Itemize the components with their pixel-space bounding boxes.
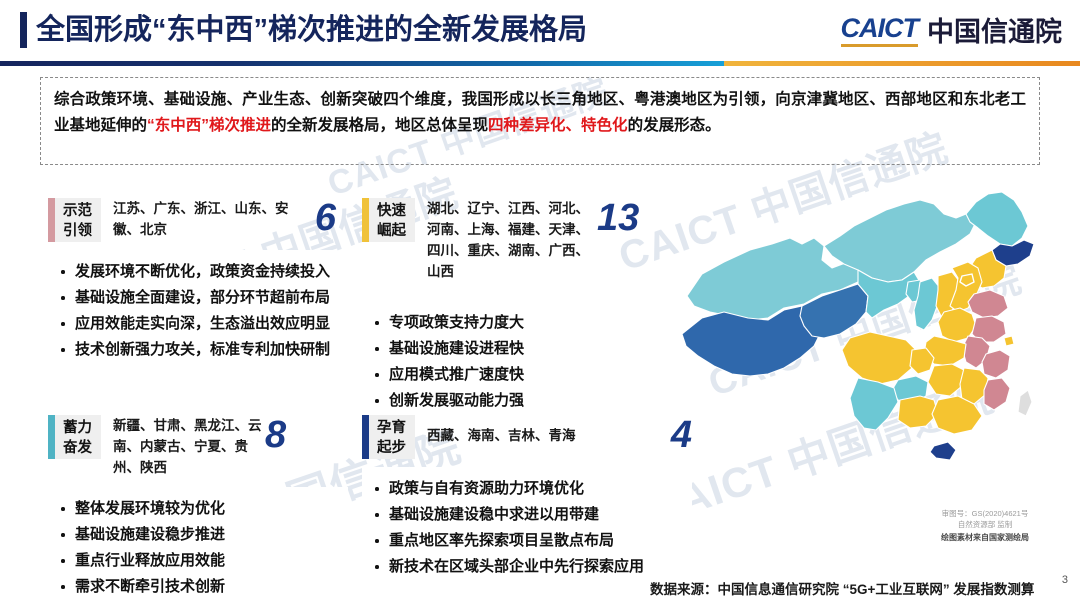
region-sichuan (842, 332, 916, 384)
card-header: 示范 引领 江苏、广东、浙江、山东、安徽、北京 6 (48, 198, 336, 242)
list-item: 需求不断牵引技术创新 (58, 574, 336, 600)
intro-highlight-1: “东中西”梯次推进 (147, 117, 271, 134)
list-item: 应用效能走实向深，生态溢出效应明显 (58, 311, 324, 337)
logo-abbr-text: CAICT (841, 14, 919, 43)
card-tag-line2: 引领 (63, 221, 92, 241)
card-count: 8 (263, 415, 286, 455)
map-note-line3: 绘图素材来自国家测绘局 (900, 531, 1070, 544)
card-count: 6 (313, 198, 336, 238)
card-tag-text: 蓄力 奋发 (55, 415, 101, 459)
region-heilongjiang (966, 192, 1028, 246)
map-approval-note: 审图号：GS(2020)4621号 自然资源部 监制 绘图素材来自国家测绘局 (900, 508, 1070, 544)
divider-blue-segment (0, 61, 724, 66)
list-item: 政策与自有资源助力环境优化 (372, 476, 680, 502)
list-item: 重点行业释放应用效能 (58, 548, 336, 574)
list-item: 基础设施建设进程快 (372, 336, 670, 362)
card-accent-bar (362, 198, 369, 242)
china-map (672, 178, 1072, 508)
card-accent-bar (362, 415, 369, 459)
card-bullets: 发展环境不断优化，政策资金持续投入 基础设施全面建设，部分环节超前布局 应用效能… (48, 250, 336, 373)
logo-mark: CAICT (841, 14, 919, 47)
card-tag-line1: 示范 (63, 201, 92, 221)
card-count: 4 (669, 415, 692, 455)
card-tag-line1: 孕育 (377, 418, 406, 438)
card-bullets: 整体发展环境较为优化 基础设施建设稳步推进 重点行业释放应用效能 需求不断牵引技… (48, 487, 348, 610)
header-divider (0, 61, 1080, 66)
card-bullets: 政策与自有资源助力环境优化 基础设施建设稳中求进以用带建 重点地区率先探索项目呈… (362, 467, 692, 590)
list-item: 重点地区率先探索项目呈散点布局 (372, 528, 680, 554)
region-taiwan (1018, 390, 1032, 416)
slide-header: 全国形成“东中西”梯次推进的全新发展格局 CAICT 中国信通院 (0, 0, 1080, 60)
intro-part3: 的发展形态。 (628, 117, 721, 134)
card-count: 13 (595, 198, 639, 238)
intro-paragraph: 综合政策环境、基础设施、产业生态、创新突破四个维度，我国形成以长三角地区、粤港澳… (54, 87, 1026, 139)
card-tag-text: 示范 引领 (55, 198, 101, 242)
card-tag-line2: 崛起 (377, 221, 406, 241)
card-header: 快速 崛起 湖北、辽宁、江西、河北、河南、上海、福建、天津、四川、重庆、湖南、广… (362, 198, 682, 283)
list-item: 整体发展环境较为优化 (58, 496, 336, 522)
card-accent-bar (48, 198, 55, 242)
region-shandong (968, 290, 1008, 318)
region-hainan (930, 442, 956, 460)
list-item: 应用模式推广速度快 (372, 362, 670, 388)
intro-highlight-2: 四种差异化、特色化 (488, 117, 628, 134)
map-note-line2: 自然资源部 监制 (900, 519, 1070, 530)
region-yunnan (850, 378, 898, 430)
card-tag: 示范 引领 (48, 198, 101, 242)
list-item: 新技术在区域头部企业中先行探索应用 (372, 554, 680, 580)
card-accent-bar (48, 415, 55, 459)
region-guangxi (898, 396, 938, 428)
region-fujian (984, 378, 1010, 410)
card-tag: 快速 崛起 (362, 198, 415, 242)
intro-box: 综合政策环境、基础设施、产业生态、创新突破四个维度，我国形成以长三角地区、粤港澳… (40, 77, 1040, 165)
card-tag-text: 孕育 起步 (369, 415, 415, 459)
region-zhejiang (982, 350, 1010, 378)
region-hunan (928, 364, 964, 396)
logo-cn-text: 中国信通院 (927, 17, 1062, 47)
card-tag-text: 快速 崛起 (369, 198, 415, 242)
list-item: 创新发展驱动能力强 (372, 388, 670, 414)
card-tag-line1: 快速 (377, 201, 406, 221)
page-title: 全国形成“东中西”梯次推进的全新发展格局 (36, 10, 587, 50)
category-card-demonstration[interactable]: 示范 引领 江苏、广东、浙江、山东、安徽、北京 6 发展环境不断优化，政策资金持… (48, 198, 336, 373)
map-note-line1: 审图号：GS(2020)4621号 (900, 508, 1070, 519)
slide-root: CAICT 中国信通院 CAICT 中国信通院 CAICT 中国信通院 CAIC… (0, 0, 1080, 608)
caict-logo: CAICT 中国信通院 (841, 14, 1063, 47)
card-tag-line1: 蓄力 (63, 418, 92, 438)
card-tag: 孕育 起步 (362, 415, 415, 459)
list-item: 基础设施建设稳中求进以用带建 (372, 502, 680, 528)
category-card-rapid-rise[interactable]: 快速 崛起 湖北、辽宁、江西、河北、河南、上海、福建、天津、四川、重庆、湖南、广… (362, 198, 682, 424)
card-provinces: 西藏、海南、吉林、青海 (415, 415, 669, 447)
data-source-footer: 数据来源：中国信息通信研究院 “5G+工业互联网” 发展指数测算 (650, 578, 1034, 598)
card-provinces: 湖北、辽宁、江西、河北、河南、上海、福建、天津、四川、重庆、湖南、广西、山西 (415, 198, 595, 283)
title-accent-bar (20, 12, 27, 48)
card-tag-line2: 起步 (377, 438, 406, 458)
category-card-accumulating[interactable]: 蓄力 奋发 新疆、甘肃、黑龙江、云南、内蒙古、宁夏、贵州、陕西 8 整体发展环境… (48, 415, 348, 610)
divider-gold-segment (724, 61, 1080, 66)
card-bullets: 专项政策支持力度大 基础设施建设进程快 应用模式推广速度快 创新发展驱动能力强 (362, 301, 682, 424)
region-shanghai (1004, 336, 1014, 346)
list-item: 基础设施全面建设，部分环节超前布局 (58, 285, 324, 311)
logo-underline (841, 44, 919, 47)
list-item: 发展环境不断优化，政策资金持续投入 (58, 259, 324, 285)
list-item: 基础设施建设稳步推进 (58, 522, 336, 548)
card-header: 蓄力 奋发 新疆、甘肃、黑龙江、云南、内蒙古、宁夏、贵州、陕西 8 (48, 415, 348, 479)
card-provinces: 新疆、甘肃、黑龙江、云南、内蒙古、宁夏、贵州、陕西 (101, 415, 263, 479)
card-tag-line2: 奋发 (63, 438, 92, 458)
card-provinces: 江苏、广东、浙江、山东、安徽、北京 (101, 198, 313, 241)
list-item: 技术创新强力攻关，标准专利加快研制 (58, 337, 324, 363)
intro-part2: 的全新发展格局，地区总体呈现 (271, 117, 488, 134)
page-number: 3 (1062, 574, 1068, 586)
china-map-svg (672, 178, 1072, 508)
card-header: 孕育 起步 西藏、海南、吉林、青海 4 (362, 415, 692, 459)
category-card-incubating[interactable]: 孕育 起步 西藏、海南、吉林、青海 4 政策与自有资源助力环境优化 基础设施建设… (362, 415, 692, 590)
card-tag: 蓄力 奋发 (48, 415, 101, 459)
list-item: 专项政策支持力度大 (372, 310, 670, 336)
